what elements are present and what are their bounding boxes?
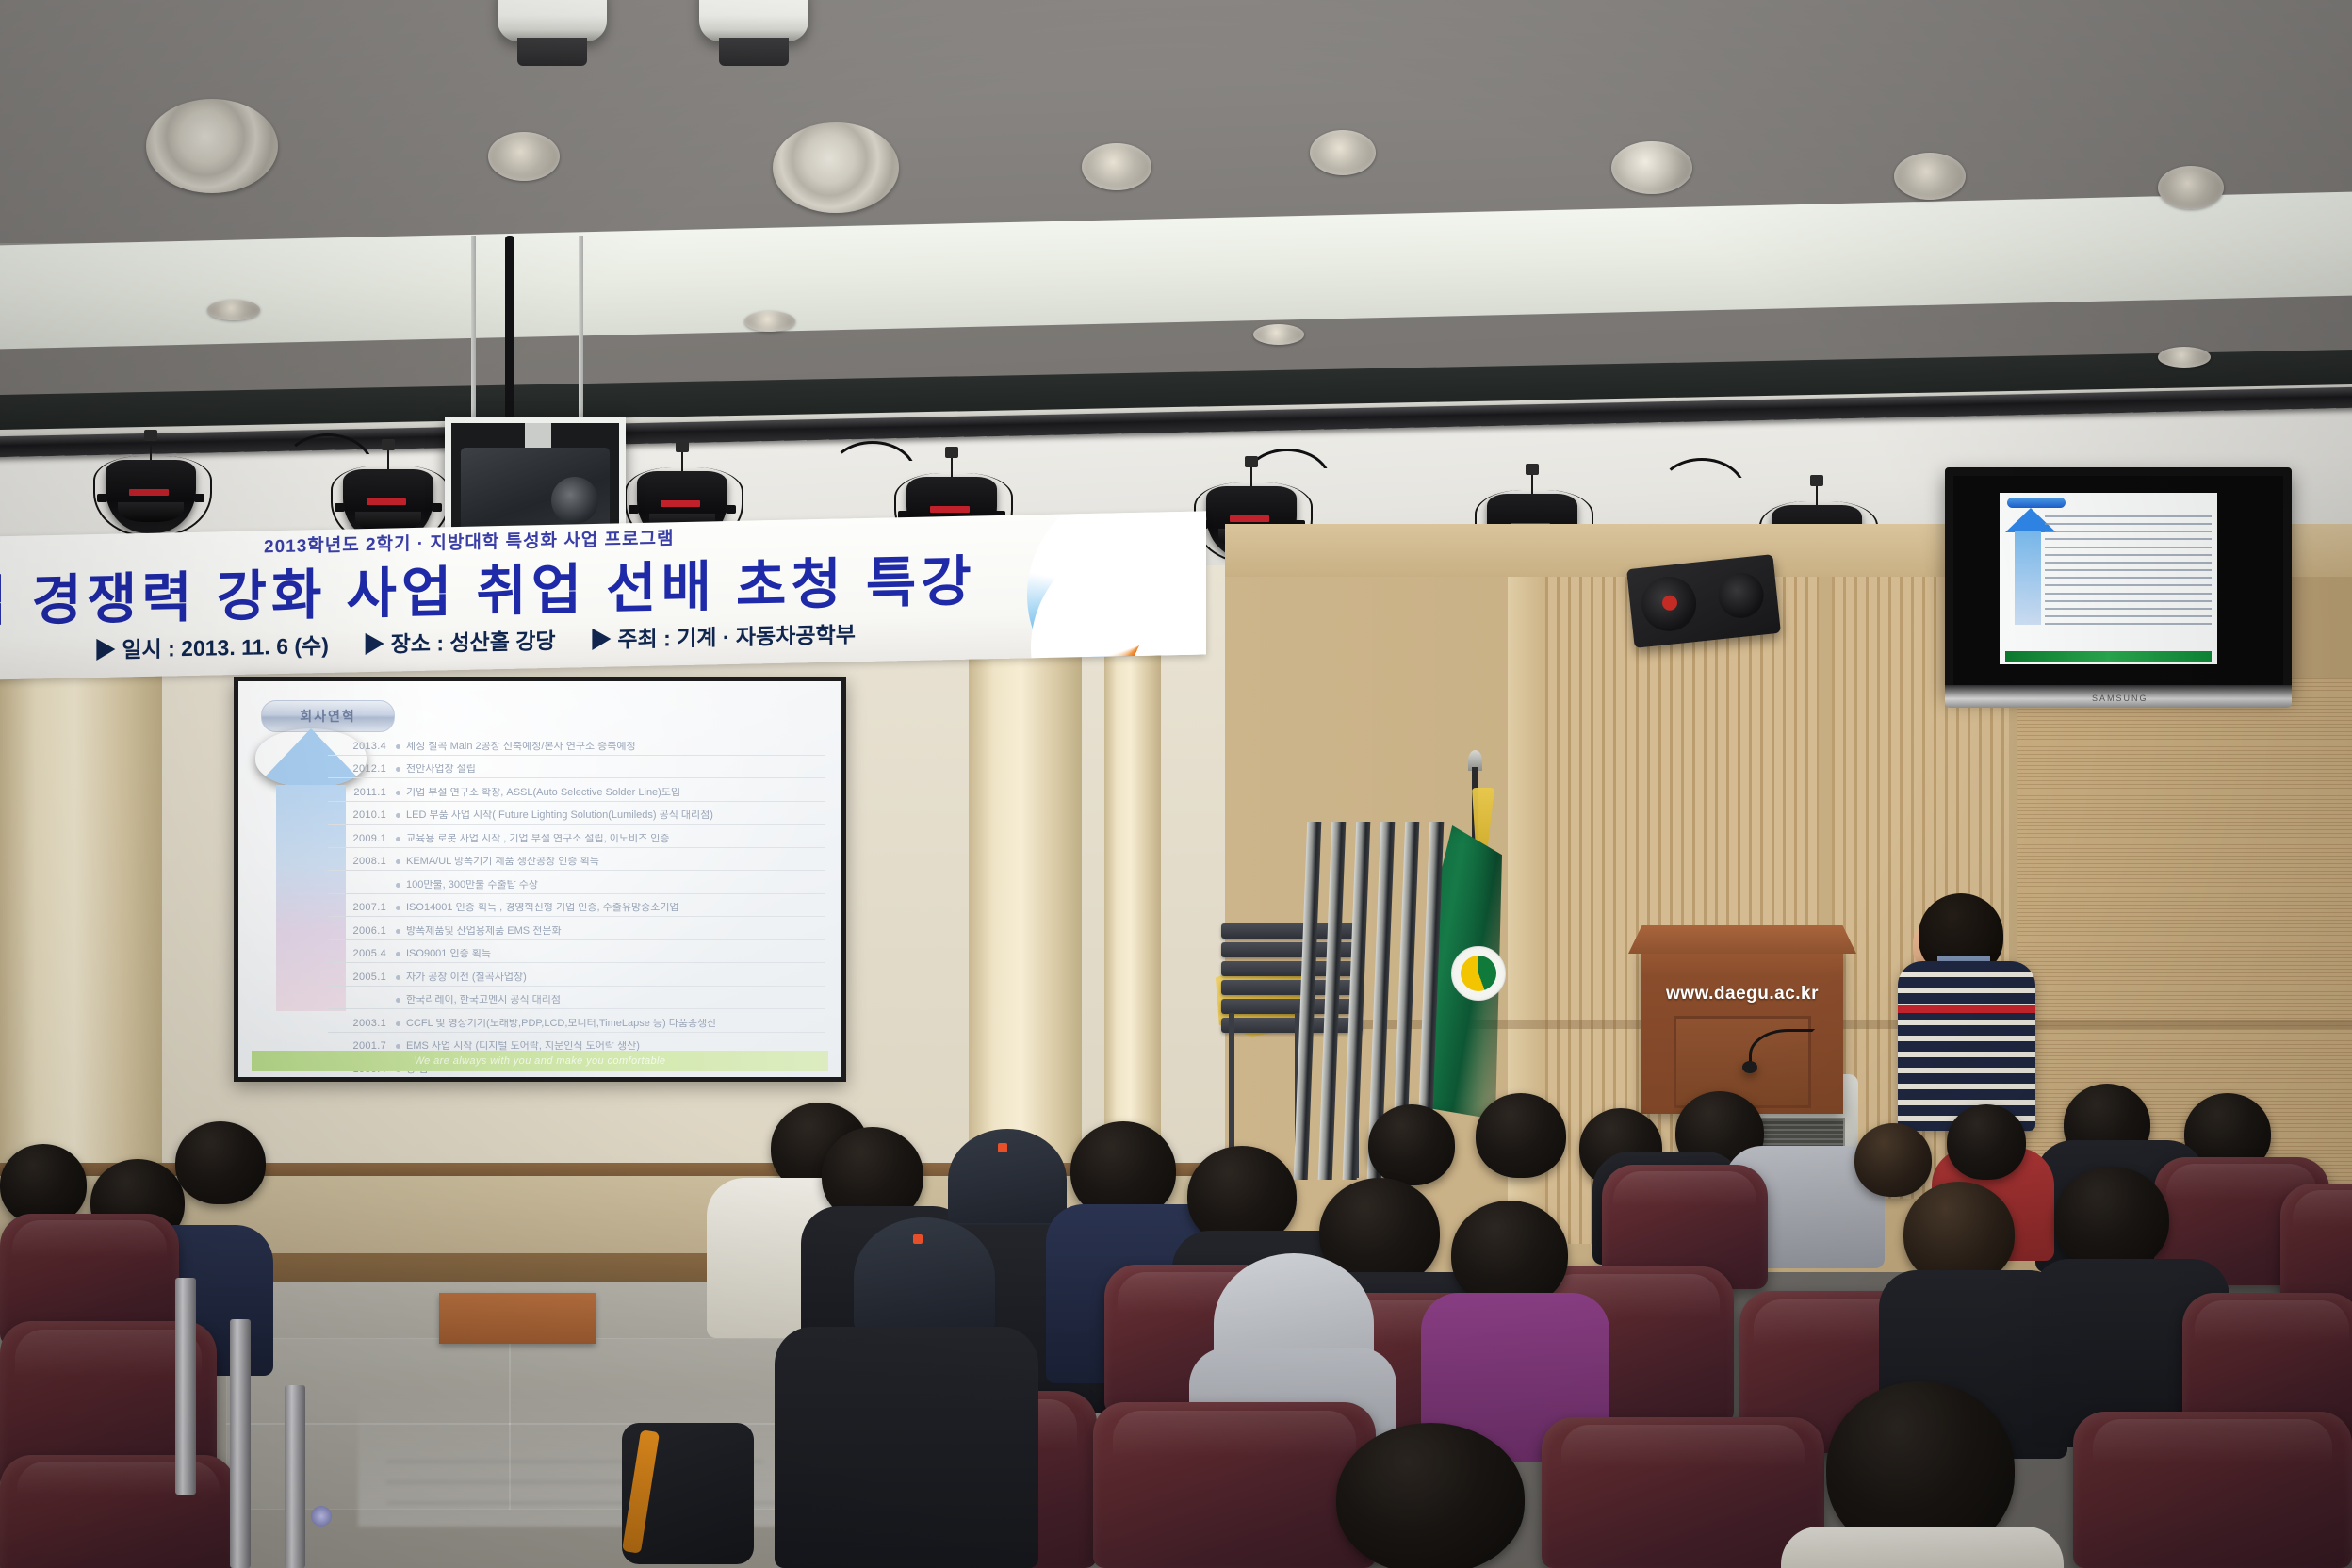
stage-step xyxy=(439,1293,596,1344)
timeline-year: 2013.4 xyxy=(328,742,396,755)
timeline-text: 방폭제품및 산업용제품 EMS 전문화 xyxy=(406,926,562,939)
bullet-icon xyxy=(396,767,400,772)
downlight-4 xyxy=(1894,153,1966,200)
audience-head xyxy=(1336,1423,1525,1568)
presenter-person xyxy=(1894,893,2035,1129)
timeline-year: 2003.1 xyxy=(328,1019,396,1032)
projector-pole-left xyxy=(471,236,476,424)
ceiling-speaker-2 xyxy=(699,0,808,41)
audience-head xyxy=(1947,1104,2026,1180)
banner-detail-place: ▶ 장소 : 성산홀 강당 xyxy=(363,629,555,657)
podium-top xyxy=(1628,925,1856,954)
timeline-text: 천안사업장 설립 xyxy=(406,764,476,777)
banner-detail-date: ▶ 일시 : 2013. 11. 6 (수) xyxy=(94,633,329,662)
slide-title-pill: 회사연혁 xyxy=(261,700,395,732)
projector-body xyxy=(461,448,610,532)
audience-cap xyxy=(854,1217,995,1338)
timeline-text: 교육용 로봇 사업 시작 , 기업 부설 연구소 설립, 이노비즈 인증 xyxy=(406,834,670,847)
bullet-icon xyxy=(396,1021,400,1026)
tv-brand-logo: SAMSUNG xyxy=(2092,694,2148,703)
timeline-row: 2005.1자가 공장 이전 (칠곡사업장) xyxy=(328,963,825,987)
timeline-text: 한국리레이, 한국고멘시 공식 대리점 xyxy=(406,995,561,1008)
seat-row-rail xyxy=(230,1319,251,1568)
audience-head xyxy=(175,1121,266,1204)
cap-logo-icon xyxy=(998,1143,1007,1152)
timeline-year: 2007.1 xyxy=(328,903,396,916)
timeline-text: KEMA/UL 방폭기기 제품 생산공장 인증 획득 xyxy=(406,857,599,870)
ceiling-speaker-1 xyxy=(498,0,607,41)
downlight-9 xyxy=(1253,324,1304,345)
timeline-text: CCFL 및 영상기기(노래방,PDP,LCD,모니터,TimeLapse 등)… xyxy=(406,1019,716,1032)
audience-head xyxy=(1368,1104,1455,1185)
backpack-strap xyxy=(622,1429,660,1554)
timeline-year: 2006.1 xyxy=(328,926,396,939)
downlight-8 xyxy=(744,311,795,332)
timeline-row: 2010.1LED 부품 사업 시작( Future Lighting Solu… xyxy=(328,802,825,825)
bullet-icon xyxy=(396,998,400,1003)
tv-slide-footer xyxy=(2005,651,2212,662)
projector-pole-right xyxy=(579,236,583,424)
tv-slide-pill xyxy=(2007,498,2066,508)
timeline-row: 2007.1ISO14001 인증 획득 , 경영혁신형 기업 인증, 수출유망… xyxy=(328,894,825,918)
bullet-icon xyxy=(396,906,400,910)
ceiling-vent-2 xyxy=(773,122,899,213)
auditorium-seat xyxy=(1542,1417,1824,1568)
presenter-red-stripe xyxy=(1898,1004,2035,1013)
downlight-5 xyxy=(2158,166,2224,209)
event-banner: 2013학년도 2학기 · 지방대학 특성화 사업 프로그램 업 경쟁력 강화 … xyxy=(0,511,1206,679)
slide-timeline-rows: 2013.4세성 칠곡 Main 2공장 신축예정/본사 연구소 증축예정 20… xyxy=(328,732,825,1039)
wall-pilaster-3 xyxy=(1104,569,1161,1182)
timeline-text: 기업 부설 연구소 확장, ASSL(Auto Selective Solder… xyxy=(406,788,680,801)
timeline-text: 100만불, 300만불 수출탑 수상 xyxy=(406,880,538,893)
timeline-year: 2005.4 xyxy=(328,949,396,962)
bullet-icon xyxy=(396,929,400,934)
mic-gooseneck xyxy=(1749,1029,1815,1072)
bullet-icon xyxy=(396,1044,400,1049)
timeline-year: 2012.1 xyxy=(328,764,396,777)
downlight-7 xyxy=(207,300,260,320)
downlight-2 xyxy=(1082,143,1151,190)
tv-screen xyxy=(2000,493,2217,664)
tv-arrow-shaft xyxy=(2015,531,2041,625)
mic-capsule-icon xyxy=(1742,1061,1757,1073)
bullet-icon xyxy=(396,975,400,980)
timeline-year: 2010.1 xyxy=(328,810,396,824)
tv-slide-lines xyxy=(2045,515,2212,642)
timeline-year: 2011.1 xyxy=(328,788,396,801)
banner-building-graphic xyxy=(1055,549,1197,646)
podium-microphone xyxy=(1749,1029,1822,1078)
timeline-row: 2006.1방폭제품및 산업용제품 EMS 전문화 xyxy=(328,917,825,940)
timeline-text: 자가 공장 이전 (칠곡사업장) xyxy=(406,972,527,986)
timeline-text: LED 부품 사업 시작( Future Lighting Solution(L… xyxy=(406,810,713,824)
seat-aisle-light xyxy=(311,1506,332,1527)
projection-screen-frame: 회사연혁 2013.4세성 칠곡 Main 2공장 신축예정/본사 연구소 증축… xyxy=(234,677,846,1082)
slide-footer-text: We are always with you and make you comf… xyxy=(415,1055,666,1067)
presenter-striped-sweater xyxy=(1898,961,2035,1131)
bullet-icon xyxy=(396,744,400,749)
auditorium-seat xyxy=(1093,1402,1376,1568)
timeline-year xyxy=(328,1005,396,1008)
audience-head xyxy=(1451,1200,1568,1308)
bullet-icon xyxy=(396,883,400,888)
timeline-text: 세성 칠곡 Main 2공장 신축예정/본사 연구소 증축예정 xyxy=(406,742,636,755)
timeline-row: 2011.1기업 부설 연구소 확장, ASSL(Auto Selective … xyxy=(328,778,825,802)
audience-body xyxy=(1781,1527,2064,1568)
projector-cable xyxy=(505,236,514,422)
audience-head xyxy=(1854,1123,1932,1197)
timeline-row: 2003.1CCFL 및 영상기기(노래방,PDP,LCD,모니터,TimeLa… xyxy=(328,1009,825,1033)
timeline-row: 2012.1천안사업장 설립 xyxy=(328,756,825,779)
banner-detail-host: ▶ 주최 : 기계 · 자동차공학부 xyxy=(590,622,856,652)
bullet-icon xyxy=(396,791,400,795)
bullet-icon xyxy=(396,813,400,818)
audience-cap xyxy=(948,1129,1067,1231)
timeline-text: ISO14001 인증 획득 , 경영혁신형 기업 인증, 수출유망중소기업 xyxy=(406,903,679,916)
wall-tv-monitor: SAMSUNG xyxy=(1945,467,2292,694)
audience-body xyxy=(775,1327,1038,1568)
bullet-icon xyxy=(396,859,400,864)
audience-head xyxy=(1476,1093,1566,1178)
auditorium-seat xyxy=(2073,1412,2352,1568)
seat-row-rail xyxy=(285,1385,305,1568)
backpack xyxy=(622,1423,754,1564)
downlight-1 xyxy=(488,132,560,181)
bullet-icon xyxy=(396,837,400,841)
timeline-row: 2008.1KEMA/UL 방폭기기 제품 생산공장 인증 획득 xyxy=(328,848,825,872)
timeline-year: 2009.1 xyxy=(328,834,396,847)
timeline-year: 2005.1 xyxy=(328,972,396,986)
timeline-row: 2009.1교육용 로봇 사업 시작 , 기업 부설 연구소 설립, 이노비즈 … xyxy=(328,825,825,848)
audience-head xyxy=(2054,1167,2169,1272)
auditorium-photo: 2013학년도 2학기 · 지방대학 특성화 사업 프로그램 업 경쟁력 강화 … xyxy=(0,0,2352,1568)
projector-mount xyxy=(525,423,551,449)
downlight-6 xyxy=(1310,130,1376,175)
slide-footer-bar: We are always with you and make you comf… xyxy=(252,1051,828,1071)
downlight-10 xyxy=(2158,347,2211,367)
speaker-tweeter xyxy=(1716,570,1766,620)
timeline-year: 2008.1 xyxy=(328,857,396,870)
timeline-text: ISO9001 인증 획득 xyxy=(406,949,491,962)
timeline-row: 2013.4세성 칠곡 Main 2공장 신축예정/본사 연구소 증축예정 xyxy=(328,732,825,756)
auditorium-seat xyxy=(0,1455,236,1568)
timeline-row: 100만불, 300만불 수출탑 수상 xyxy=(328,871,825,894)
cap-logo-icon xyxy=(913,1234,923,1244)
podium-url-label: www.daegu.ac.kr xyxy=(1641,984,1843,1004)
projection-screen: 회사연혁 2013.4세성 칠곡 Main 2공장 신축예정/본사 연구소 증축… xyxy=(238,681,841,1077)
wall-speaker xyxy=(1626,554,1781,648)
timeline-row: 2005.4ISO9001 인증 획득 xyxy=(328,940,825,964)
seat-row-rail xyxy=(175,1278,196,1494)
bullet-icon xyxy=(396,952,400,956)
timeline-year xyxy=(328,890,396,893)
timeline-row: 한국리레이, 한국고멘시 공식 대리점 xyxy=(328,987,825,1010)
stage-light-1 xyxy=(106,460,196,533)
downlight-3 xyxy=(1611,141,1692,194)
ceiling-vent-1 xyxy=(146,99,278,193)
projector-lens xyxy=(551,477,598,524)
